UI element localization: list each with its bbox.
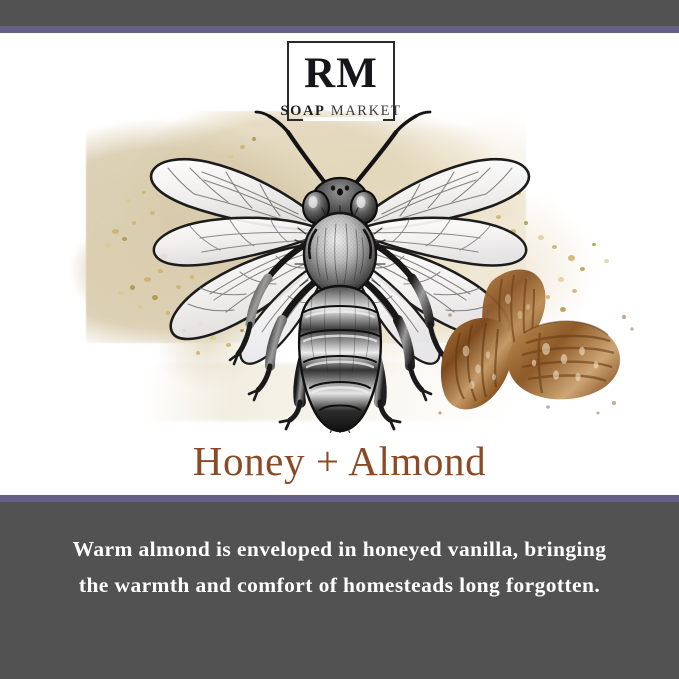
logo-tagline-soap: SOAP: [280, 103, 325, 119]
logo-tagline-market: MARKET: [331, 103, 402, 119]
logo-tagline: SOAP MARKET: [267, 103, 415, 120]
gold-fleck: [552, 245, 557, 249]
gold-fleck: [105, 243, 111, 248]
almonds-illustration: [428, 255, 643, 425]
top-purple-divider: [0, 26, 679, 33]
product-label: Honey + Almond Warm almond is enveloped …: [0, 0, 679, 679]
gold-fleck: [122, 237, 127, 241]
gold-fleck: [118, 291, 124, 295]
description-block: Warm almond is enveloped in honeyed vani…: [0, 502, 679, 679]
top-gray-band: [0, 0, 679, 26]
description-text: Warm almond is enveloped in honeyed vani…: [72, 531, 607, 603]
gold-fleck: [592, 243, 596, 246]
brand-logo: RM SOAP MARKET: [287, 41, 395, 121]
bottom-purple-divider: [0, 495, 679, 502]
logo-monogram: RM: [287, 49, 395, 99]
gold-fleck: [112, 229, 119, 234]
scent-name: Honey + Almond: [0, 437, 679, 485]
